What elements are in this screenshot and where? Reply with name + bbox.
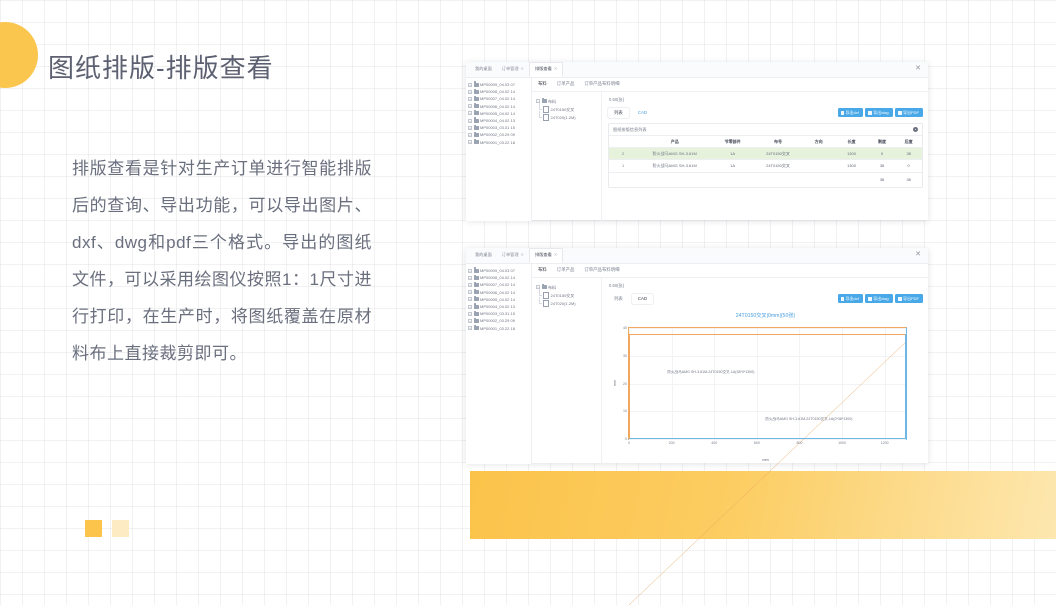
expand-caret-icon[interactable]: + <box>468 104 472 108</box>
tree-item[interactable]: +MP00004_04.02 13 <box>468 303 530 310</box>
cell-index: 1 <box>609 160 637 172</box>
tree-item-label: 24T020(1.2M) <box>551 300 576 307</box>
folder-icon <box>474 312 479 316</box>
expand-caret-icon[interactable]: + <box>468 297 472 301</box>
folder-icon <box>474 297 479 301</box>
chart-plot-area: mm 020040060080010001200010203040防火战马AMG… <box>610 321 921 456</box>
sub-tabbar-top: 布料 订单产品 订单产品布料明细 <box>532 78 928 92</box>
fabric-tree-item[interactable]: 24T0150交叉 <box>536 105 599 113</box>
tree-item[interactable]: +MP00008_04.02 14 <box>468 274 530 281</box>
cell-product: 防火战马AMG SH-3.61M <box>637 148 712 160</box>
view-mode-toolbar-bottom: 列表 CAD 导出dxf 导出dwg 导出PDF <box>608 292 923 306</box>
folder-icon <box>474 90 479 94</box>
tab-label: 我的桌面 <box>475 67 492 71</box>
folder-icon <box>474 326 479 330</box>
cell-part: 1A <box>712 160 753 172</box>
table-row[interactable]: 1 防火战马AMG SH-3.61M 1A 24T0150交叉 1300 38 … <box>609 160 922 172</box>
decor-square-solid <box>85 520 102 537</box>
export-button-group: 导出dxf 导出dwg 导出PDF <box>838 294 923 303</box>
tree-item-label: 布料 <box>548 284 556 291</box>
tree-item[interactable]: +MP00001_03.22 18 <box>468 139 530 146</box>
col-index <box>609 136 637 148</box>
browser-tabbar-bottom: 我的桌面 订单管理 ✕ 排版查看 ✕ ✕ <box>466 248 928 264</box>
window-close-icon[interactable]: ✕ <box>914 65 922 73</box>
cell-part: 1A <box>712 148 753 160</box>
expand-caret-icon[interactable]: + <box>468 305 472 309</box>
file-icon <box>543 114 549 121</box>
tree-item-label: MP00009_04.03 07 <box>480 267 515 274</box>
folder-icon <box>474 133 479 137</box>
tree-item-label: MP00007_04.02 14 <box>480 281 515 288</box>
tree-item-label: MP00008_04.02 14 <box>480 88 515 95</box>
window-close-icon[interactable]: ✕ <box>914 251 922 259</box>
subtab-order-product[interactable]: 订单产品 <box>557 82 575 86</box>
close-icon[interactable]: ✕ <box>521 253 525 257</box>
decor-yellow-circle <box>0 22 38 88</box>
tree-item-label: MP00002_03.29 09 <box>480 131 515 138</box>
export-pdf-button[interactable]: 导出PDF <box>895 294 923 303</box>
close-icon[interactable]: ✕ <box>554 67 558 71</box>
tree-item-label: 布料 <box>548 98 556 105</box>
cell-blank <box>712 172 753 187</box>
folder-icon <box>474 140 479 144</box>
expand-caret-icon[interactable]: + <box>468 97 472 101</box>
tree-item[interactable]: +MP00005_04.02 14 <box>468 110 530 117</box>
tree-item[interactable]: +MP00002_03.29 09 <box>468 317 530 324</box>
cell-blank <box>753 172 803 187</box>
export-icon <box>841 111 844 115</box>
col-part: 节零部件 <box>712 136 753 148</box>
tree-item-label: 24T020(1.2M) <box>551 114 576 121</box>
folder-icon <box>474 319 479 323</box>
expand-caret-icon[interactable]: + <box>468 140 472 144</box>
col-product: 产品 <box>637 136 712 148</box>
layout-info-table-card: 图纸排版信息列表 产品 节零部件 布号 方 <box>608 123 923 188</box>
chart-annotation: 防火战马AMG SH-3.61M-24T0150交叉-1A(0*38*1300) <box>765 417 852 422</box>
table-summary-row: 38 38 <box>609 172 922 187</box>
export-icon <box>898 297 901 301</box>
subtab-order-product-fabric-detail[interactable]: 订单产品布料明细 <box>584 82 619 86</box>
expand-caret-icon[interactable]: + <box>468 319 472 323</box>
export-icon <box>868 111 871 115</box>
view-tab-list[interactable]: 列表 <box>608 294 629 303</box>
expand-caret-icon[interactable]: + <box>468 269 472 273</box>
folder-icon <box>474 276 479 280</box>
expand-caret-icon[interactable]: + <box>468 90 472 94</box>
gear-icon[interactable] <box>913 127 918 132</box>
view-tab-cad[interactable]: CAD <box>632 108 653 117</box>
cell-fabric-no: 24T0150交叉 <box>753 148 803 160</box>
view-tab-cad[interactable]: CAD <box>632 294 653 303</box>
fabric-tree-item[interactable]: 24T020(1.2M) <box>536 113 599 121</box>
subtab-order-product[interactable]: 订单产品 <box>557 268 575 272</box>
chart-y-tick: 40 <box>623 326 627 330</box>
tree-item-label: MP00004_04.02 13 <box>480 303 515 310</box>
chart-y-tick: 20 <box>623 382 627 386</box>
cell-back: 0 <box>895 160 922 172</box>
folder-icon <box>474 97 479 101</box>
tree-item-label: MP00001_03.22 18 <box>480 325 515 332</box>
cell-front: 0 <box>869 148 896 160</box>
tree-item-label: 24T0150交叉 <box>551 106 575 113</box>
fabric-tree-item[interactable]: 24T020(1.2M) <box>536 299 599 307</box>
col-front: 剩度 <box>869 136 896 148</box>
summary-back: 38 <box>895 172 922 187</box>
cell-length: 1300 <box>834 148 868 160</box>
tree-item[interactable]: +MP00007_04.02 14 <box>468 281 530 288</box>
tree-item-label: MP00006_04.02 14 <box>480 289 515 296</box>
chart-title: 24T0150交叉|0mm|(50张) <box>608 308 923 321</box>
close-icon[interactable]: ✕ <box>554 253 558 257</box>
expand-caret-icon[interactable]: + <box>468 133 472 137</box>
folder-icon <box>474 269 479 273</box>
table-header-row: 产品 节零部件 布号 方向 长度 剩度 后度 <box>609 136 922 148</box>
file-icon <box>543 292 549 299</box>
cell-direction <box>803 148 834 160</box>
folder-icon <box>474 83 479 87</box>
export-dxf-button[interactable]: 导出dxf <box>838 108 863 117</box>
tree-item[interactable]: +MP00003_03.31 15 <box>468 124 530 131</box>
tree-item-label: MP00003_03.31 15 <box>480 310 515 317</box>
tree-item-label: MP00005_04.02 14 <box>480 296 515 303</box>
cell-blank <box>834 172 868 187</box>
button-label: 导出PDF <box>903 111 919 115</box>
tab-my-desktop[interactable]: 我的桌面 <box>470 253 497 257</box>
export-dxf-button[interactable]: 导出dxf <box>838 294 863 303</box>
tree-item-label: MP00006_04.02 14 <box>480 103 515 110</box>
button-label: 导出dwg <box>873 297 888 301</box>
tree-item-label: MP00004_04.02 13 <box>480 117 515 124</box>
subtab-fabric[interactable]: 布料 <box>538 82 547 86</box>
tree-item-label: MP00009_04.03 07 <box>480 81 515 88</box>
expand-caret-icon[interactable]: + <box>468 119 472 123</box>
tree-item[interactable]: +MP00006_04.02 14 <box>468 289 530 296</box>
tree-item[interactable]: +MP00003_03.31 15 <box>468 310 530 317</box>
cell-blank <box>803 172 834 187</box>
button-label: 导出dwg <box>873 111 888 115</box>
chart-y-tick: 30 <box>623 354 627 358</box>
cell-index: 2 <box>609 148 637 160</box>
chart-y-axis-label: mm <box>613 380 617 386</box>
fabric-tree-top[interactable]: −布料 24T0150交叉 24T020(1.2M) <box>532 92 602 221</box>
sub-tabbar-bottom: 布料 订单产品 订单产品布料明细 <box>532 264 928 278</box>
tab-layout-view[interactable]: 排版查看 ✕ <box>529 248 563 263</box>
page-body-text: 排版查看是针对生产订单进行智能排版后的查询、导出功能，可以导出图片、dxf、dw… <box>72 150 372 372</box>
button-label: 导出dxf <box>846 297 859 301</box>
tab-label: 订单管理 <box>502 67 519 71</box>
tree-item[interactable]: +MP00006_04.02 14 <box>468 103 530 110</box>
expand-caret-icon[interactable]: + <box>468 283 472 287</box>
export-pdf-button[interactable]: 导出PDF <box>895 108 923 117</box>
table-row[interactable]: 2 防火战马AMG SH-3.61M 1A 24T0150交叉 1300 0 3… <box>609 148 922 160</box>
tree-item-label: MP00005_04.02 14 <box>480 110 515 117</box>
tab-my-desktop[interactable]: 我的桌面 <box>470 67 497 71</box>
export-icon <box>841 297 844 301</box>
page-title: 图纸排版-排版查看 <box>48 48 274 85</box>
cell-direction <box>803 160 834 172</box>
chart-y-tick: 0 <box>625 437 627 441</box>
tree-item-label: MP00002_03.29 09 <box>480 317 515 324</box>
fabric-tree-root[interactable]: −布料 <box>536 97 599 105</box>
col-direction: 方向 <box>803 136 834 148</box>
tree-item[interactable]: +MP00009_04.03 07 <box>468 81 530 88</box>
tab-label: 订单管理 <box>502 253 519 257</box>
cell-fabric-no: 24T0150交叉 <box>753 160 803 172</box>
folder-icon <box>474 104 479 108</box>
col-length: 长度 <box>834 136 868 148</box>
col-back: 后度 <box>895 136 922 148</box>
order-tree-bottom[interactable]: +MP00009_04.03 07 +MP00008_04.02 14 +MP0… <box>466 264 532 464</box>
tab-layout-view[interactable]: 排版查看 ✕ <box>529 62 563 77</box>
col-fabric-no: 布号 <box>753 136 803 148</box>
cell-length: 1300 <box>834 160 868 172</box>
tree-item[interactable]: +MP00002_03.29 09 <box>468 131 530 138</box>
chart-canvas: 020040060080010001200010203040防火战马AMG SH… <box>628 327 907 440</box>
export-button-group: 导出dxf 导出dwg 导出PDF <box>838 108 923 117</box>
tree-item-label: MP00007_04.02 14 <box>480 95 515 102</box>
fabric-tree-item[interactable]: 24T0150交叉 <box>536 291 599 299</box>
tree-item-label: 24T0150交叉 <box>551 292 575 299</box>
tab-label: 排版查看 <box>535 67 552 71</box>
layout-info-table: 产品 节零部件 布号 方向 长度 剩度 后度 <box>609 135 922 187</box>
expand-caret-icon[interactable]: + <box>468 326 472 330</box>
tree-item[interactable]: +MP00009_04.03 07 <box>468 267 530 274</box>
fabric-tree-root[interactable]: −布料 <box>536 283 599 291</box>
screenshot-window-top: 我的桌面 订单管理 ✕ 排版查看 ✕ ✕ +MP00009_04.03 07 +… <box>466 62 928 220</box>
tab-order-management[interactable]: 订单管理 ✕ <box>497 67 529 71</box>
browser-tabbar-top: 我的桌面 订单管理 ✕ 排版查看 ✕ ✕ <box>466 62 928 78</box>
summary-front: 38 <box>869 172 896 187</box>
expand-caret-icon[interactable]: + <box>468 83 472 87</box>
cell-product: 防火战马AMG SH-3.61M <box>637 160 712 172</box>
tab-label: 排版查看 <box>535 253 552 257</box>
expand-caret-icon[interactable]: + <box>468 111 472 115</box>
decor-square-light <box>112 520 129 537</box>
order-tree-top[interactable]: +MP00009_04.03 07 +MP00008_04.02 14 +MP0… <box>466 78 532 221</box>
tab-order-management[interactable]: 订单管理 ✕ <box>497 253 529 257</box>
folder-icon <box>542 285 547 289</box>
subtab-order-product-fabric-detail[interactable]: 订单产品布料明细 <box>584 268 619 272</box>
folder-icon <box>542 99 547 103</box>
expand-caret-icon[interactable]: + <box>468 276 472 280</box>
folder-icon <box>474 305 479 309</box>
tree-item-label: MP00003_03.31 15 <box>480 124 515 131</box>
fabric-tree-bottom[interactable]: −布料 24T0150交叉 24T020(1.2M) <box>532 278 602 464</box>
tab-label: 我的桌面 <box>475 253 492 257</box>
button-label: 导出PDF <box>903 297 919 301</box>
file-icon <box>543 300 549 307</box>
file-icon <box>543 106 549 113</box>
export-dwg-button[interactable]: 导出dwg <box>865 294 892 303</box>
close-icon[interactable]: ✕ <box>521 67 525 71</box>
folder-icon <box>474 119 479 123</box>
view-mode-toolbar-top: 列表 CAD 导出dxf 导出dwg 导出PDF <box>608 106 923 120</box>
cell-front: 38 <box>869 160 896 172</box>
sheet-count-label: 0.50(张) <box>608 281 923 292</box>
cell-blank <box>609 172 637 187</box>
tree-item[interactable]: +MP00001_03.22 18 <box>468 325 530 332</box>
table-card-title: 图纸排版信息列表 <box>613 127 647 133</box>
tree-item-label: MP00001_03.22 18 <box>480 139 515 146</box>
cell-blank <box>637 172 712 187</box>
button-label: 导出dxf <box>846 111 859 115</box>
screenshot-window-bottom: 我的桌面 订单管理 ✕ 排版查看 ✕ ✕ +MP00009_04.03 07 +… <box>466 248 928 463</box>
folder-icon <box>474 111 479 115</box>
export-icon <box>868 297 871 301</box>
export-icon <box>898 111 901 115</box>
chart-y-tick: 10 <box>623 409 627 413</box>
subtab-fabric[interactable]: 布料 <box>538 268 547 272</box>
expand-caret-icon[interactable]: + <box>468 126 472 130</box>
tree-item-label: MP00008_04.02 14 <box>480 274 515 281</box>
tree-item[interactable]: +MP00008_04.02 14 <box>468 88 530 95</box>
folder-icon <box>474 290 479 294</box>
export-dwg-button[interactable]: 导出dwg <box>865 108 892 117</box>
expand-caret-icon[interactable]: + <box>468 290 472 294</box>
cell-back: 38 <box>895 148 922 160</box>
chart-boundary-rect <box>629 334 906 439</box>
chart-annotation: 防火战马AMG SH-3.61M-24T0150交叉-1A(38*0*1300) <box>667 370 754 375</box>
tree-item[interactable]: +MP00004_04.02 13 <box>468 117 530 124</box>
expand-caret-icon[interactable]: + <box>468 312 472 316</box>
folder-icon <box>474 283 479 287</box>
view-tab-list[interactable]: 列表 <box>608 108 629 117</box>
folder-icon <box>474 126 479 130</box>
tree-item[interactable]: +MP00007_04.02 14 <box>468 95 530 102</box>
sheet-count-label: 0.50(张) <box>608 95 923 106</box>
tree-item[interactable]: +MP00005_04.02 14 <box>468 296 530 303</box>
cad-layout-chart: 24T0150交叉|0mm|(50张) mm 02004006008001000… <box>608 308 923 464</box>
